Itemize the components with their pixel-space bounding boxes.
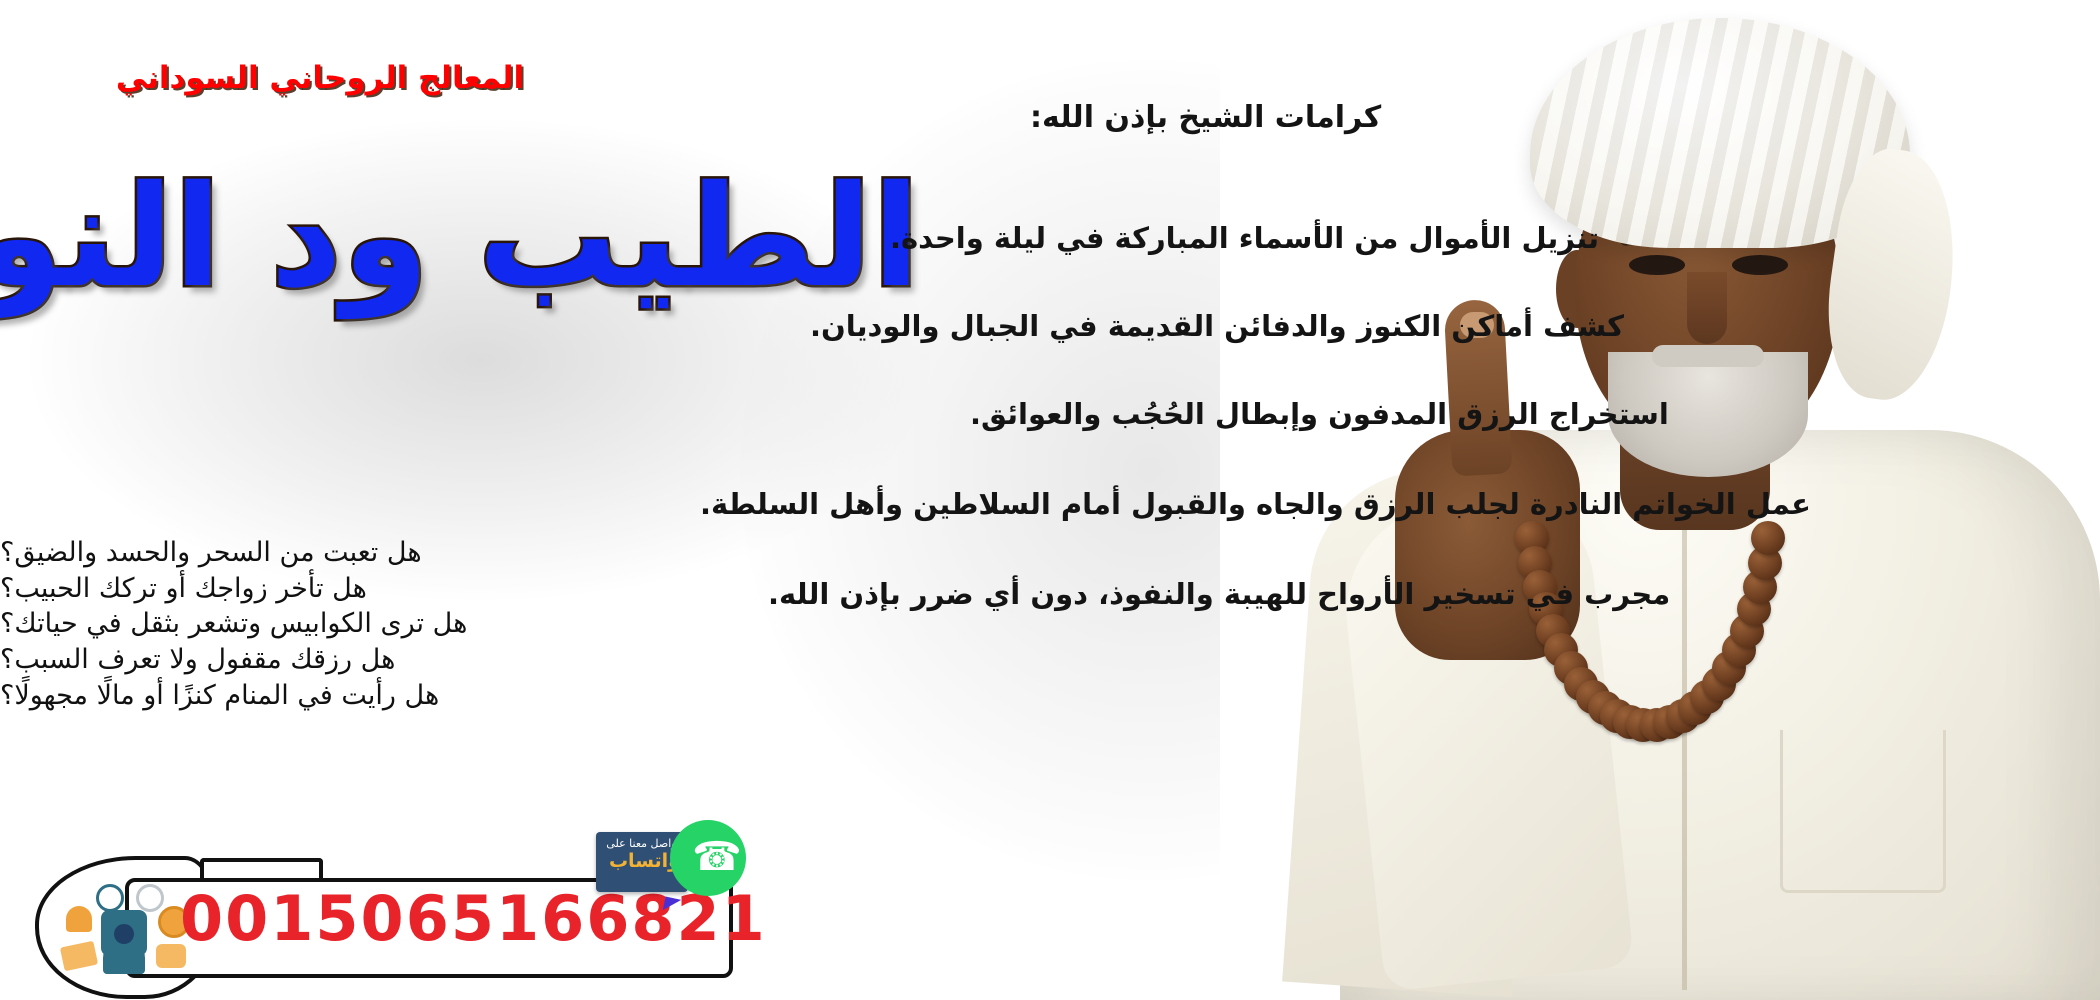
phone-handset-icon: ☎	[692, 838, 722, 878]
services-heading: كرامات الشيخ بإذن الله:	[700, 100, 2030, 135]
at-sign-icon	[96, 884, 124, 912]
contact-bar[interactable]: 0015065166821 تواصل معنا على واتساب ☎	[30, 820, 770, 1000]
question-item: هل ترى الكوابيس وتشعر بثقل في حياتك؟	[0, 606, 560, 642]
whatsapp-icon[interactable]: ☎	[670, 820, 746, 896]
top-caption: المعالج الروحاني السوداني	[0, 60, 640, 96]
question-item: هل تأخر زواجك أو تركك الحبيب؟	[0, 571, 560, 607]
envelope-icon	[60, 941, 98, 972]
service-item: عمل الخواتم النادرة لجلب الرزق والجاه وا…	[700, 487, 2030, 521]
service-item: استخراج الرزق المدفون وإبطال الحُجُب وال…	[700, 397, 2030, 431]
services-column: كرامات الشيخ بإذن الله: تنزيل الأموال من…	[700, 100, 2030, 611]
clock-icon	[136, 884, 164, 912]
questions-list: هل تعبت من السحر والحسد والضيق؟ هل تأخر …	[0, 535, 560, 713]
bell-icon	[66, 906, 92, 932]
question-item: هل رزقك مقفول ولا تعرف السبب؟	[0, 642, 560, 678]
services-list: تنزيل الأموال من الأسماء المباركة في ليل…	[700, 221, 2030, 611]
poster-canvas: المعالج الروحاني السوداني الطيب ود النور…	[0, 0, 2100, 1000]
phone-number[interactable]: 0015065166821	[180, 888, 700, 950]
service-item: مجرب في تسخير الأرواح للهيبة والنفوذ، دو…	[700, 577, 2030, 611]
service-item: كشف أماكن الكنوز والدفائن القديمة في الج…	[700, 309, 2030, 343]
contact-icon-cluster	[58, 882, 188, 982]
question-item: هل تعبت من السحر والحسد والضيق؟	[0, 535, 560, 571]
person-icon	[103, 940, 145, 974]
service-item: تنزيل الأموال من الأسماء المباركة في ليل…	[700, 221, 2030, 255]
question-item: هل رأيت في المنام كنزًا أو مالًا مجهولًا…	[0, 678, 560, 714]
